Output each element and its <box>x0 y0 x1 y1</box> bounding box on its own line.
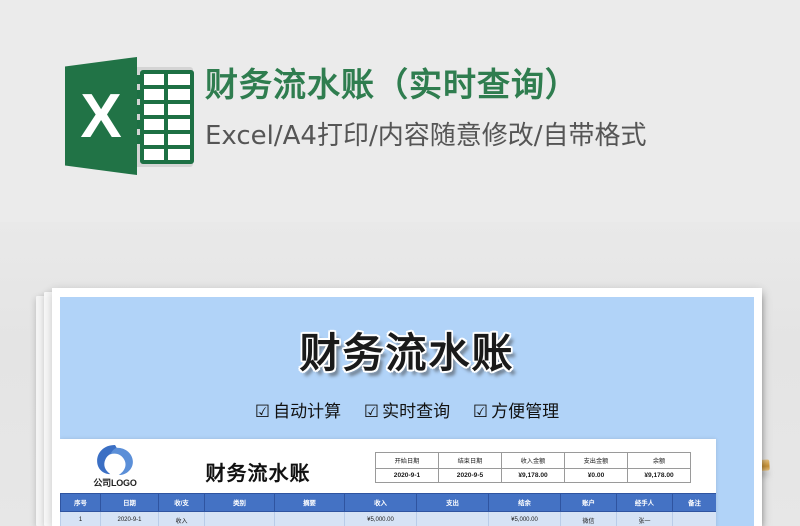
ledger-col-header: 结余 <box>489 494 561 512</box>
checkbox-checked-icon: ☑ <box>473 402 488 421</box>
sheet-right-gap <box>716 439 754 526</box>
summary-value-cell: 2020-9-5 <box>439 469 502 483</box>
company-logo: 公司LOGO <box>82 444 148 492</box>
table-row[interactable]: 1 2020-9-1 收入 ¥5,000.00 ¥5,000.00 微信 张一 <box>61 512 717 526</box>
checkbox-checked-icon: ☑ <box>364 402 379 421</box>
feature-item: ☑方便管理 <box>473 397 559 422</box>
ledger-col-header: 日期 <box>101 494 159 512</box>
ledger-cell[interactable] <box>205 512 275 526</box>
checkbox-checked-icon: ☑ <box>255 402 270 421</box>
preview-card-inner: 财务流水账 ☑自动计算 ☑实时查询 ☑方便管理 <box>60 297 754 526</box>
summary-header-cell: 结束日期 <box>439 453 502 469</box>
ledger-cell[interactable]: 张一 <box>617 512 673 526</box>
preview-card[interactable]: 财务流水账 ☑自动计算 ☑实时查询 ☑方便管理 <box>52 288 762 526</box>
ledger-col-header: 序号 <box>61 494 101 512</box>
excel-icon-letter: X <box>65 57 137 175</box>
summary-value-cell: ¥0.00 <box>565 469 628 483</box>
ledger-cell[interactable] <box>673 512 717 526</box>
ledger-cell[interactable]: 2020-9-1 <box>101 512 159 526</box>
feature-item: ☑自动计算 <box>255 397 341 422</box>
banner-subtitle: Excel/A4打印/内容随意修改/自带格式 <box>205 118 795 154</box>
summary-header-cell: 余额 <box>628 453 691 469</box>
ledger-cell[interactable] <box>275 512 345 526</box>
ledger-col-header: 账户 <box>561 494 617 512</box>
ledger-cell[interactable]: ¥5,000.00 <box>489 512 561 526</box>
ledger-col-header: 支出 <box>417 494 489 512</box>
ledger-cell[interactable] <box>417 512 489 526</box>
feature-list: ☑自动计算 ☑实时查询 ☑方便管理 <box>60 397 754 422</box>
feature-label: 自动计算 <box>273 402 341 421</box>
spreadsheet-header-area: 公司LOGO 财务流水账 开始日期 结束日期 收入金额 支出金额 余额 2020… <box>60 439 716 493</box>
feature-label: 实时查询 <box>382 402 450 421</box>
ledger-cell[interactable]: 微信 <box>561 512 617 526</box>
ledger-cell[interactable]: 收入 <box>159 512 205 526</box>
summary-value-cell: 2020-9-1 <box>376 469 439 483</box>
feature-label: 方便管理 <box>491 402 559 421</box>
summary-header-cell: 支出金额 <box>565 453 628 469</box>
feature-item: ☑实时查询 <box>364 397 450 422</box>
spreadsheet-title: 财务流水账 <box>168 457 348 486</box>
company-logo-label: 公司LOGO <box>82 476 148 489</box>
summary-table: 开始日期 结束日期 收入金额 支出金额 余额 2020-9-1 2020-9-5… <box>375 452 691 483</box>
banner-text-block: 财务流水账（实时查询） Excel/A4打印/内容随意修改/自带格式 <box>205 62 795 154</box>
ledger-cell[interactable]: 1 <box>61 512 101 526</box>
ledger-col-header: 备注 <box>673 494 717 512</box>
ledger-col-header: 收/支 <box>159 494 205 512</box>
ledger-cell[interactable]: ¥5,000.00 <box>345 512 417 526</box>
summary-header-cell: 收入金额 <box>502 453 565 469</box>
excel-icon: X <box>57 57 199 175</box>
header-banner: X 财务流水账（实时查询） Excel/A4打印/内容随意修改/自带格式 <box>0 0 800 222</box>
summary-value-cell: ¥9,178.00 <box>502 469 565 483</box>
ledger-header-row: 序号 日期 收/支 类别 摘要 收入 支出 结余 账户 经手人 备注 <box>61 494 717 512</box>
ledger-col-header: 摘要 <box>275 494 345 512</box>
ledger-table[interactable]: 序号 日期 收/支 类别 摘要 收入 支出 结余 账户 经手人 备注 1 202… <box>60 493 716 526</box>
company-logo-swirl-icon <box>96 444 134 476</box>
summary-value-row: 2020-9-1 2020-9-5 ¥9,178.00 ¥0.00 ¥9,178… <box>376 469 691 483</box>
summary-header-row: 开始日期 结束日期 收入金额 支出金额 余额 <box>376 453 691 469</box>
excel-icon-grid <box>140 70 194 164</box>
summary-header-cell: 开始日期 <box>376 453 439 469</box>
ledger-col-header: 类别 <box>205 494 275 512</box>
banner-title: 财务流水账（实时查询） <box>205 62 795 108</box>
ledger-col-header: 经手人 <box>617 494 673 512</box>
preview-card-title: 财务流水账 <box>60 319 754 379</box>
summary-value-cell: ¥9,178.00 <box>628 469 691 483</box>
spreadsheet-preview[interactable]: 公司LOGO 财务流水账 开始日期 结束日期 收入金额 支出金额 余额 2020… <box>60 439 716 526</box>
ledger-col-header: 收入 <box>345 494 417 512</box>
